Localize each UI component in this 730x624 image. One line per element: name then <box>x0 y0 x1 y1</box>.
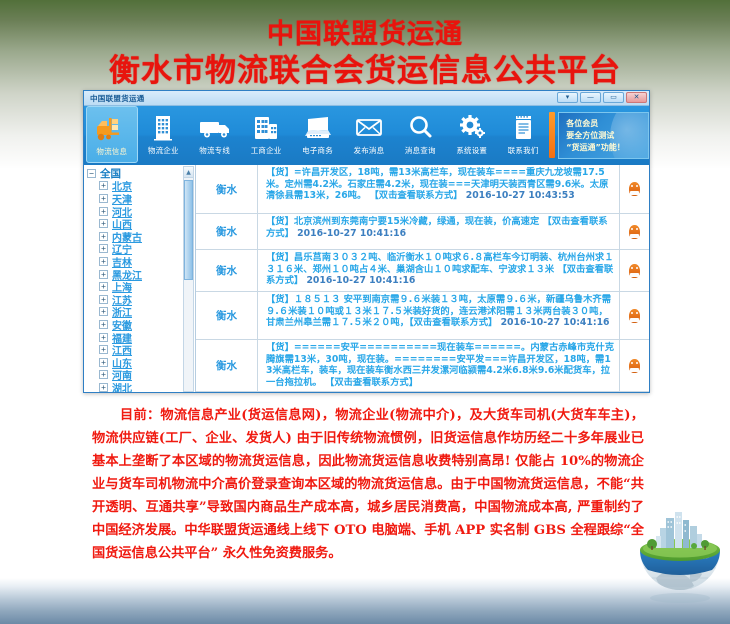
tree-node-shandong[interactable]: + 山东 <box>87 356 195 369</box>
tree-node-label: 湖北 <box>112 380 132 393</box>
window-controls: ▾ — ▭ ✕ <box>557 92 647 103</box>
tree-node-hubei[interactable]: + 湖北 <box>87 381 195 393</box>
toolbar-label: 联系我们 <box>508 145 539 156</box>
main-toolbar: 物流信息 物流企业 <box>84 106 649 165</box>
row-message: 【货】=许昌开发区，18吨，需13米高栏车，现在装车====重庆九龙坡需17.5… <box>258 165 619 213</box>
toolbar-label: 消息查询 <box>405 145 436 156</box>
headline-line-2: 衡水市物流联合会货运信息公共平台 <box>0 52 730 90</box>
computer-icon <box>298 110 338 143</box>
minimize-button[interactable]: — <box>580 92 601 103</box>
row-region: 衡水 <box>196 250 258 291</box>
tree-node-tianjin[interactable]: + 天津 <box>87 192 195 205</box>
building-icon <box>143 110 183 143</box>
region-tree: − 全国 + 北京 + 天津 + 河北 + 山西 <box>84 165 195 393</box>
row-region: 衡水 <box>196 214 258 249</box>
row-action[interactable] <box>619 292 649 339</box>
row-action[interactable] <box>619 340 649 391</box>
toolbar-item-logistics-info[interactable]: 物流信息 <box>86 106 138 163</box>
expander-icon[interactable]: + <box>99 219 108 228</box>
page-headline: 中国联盟货运通 衡水市物流联合会货运信息公共平台 <box>0 18 730 90</box>
expander-icon[interactable]: + <box>99 320 108 329</box>
toolbar-item-system-settings[interactable]: 系统设置 <box>446 106 497 163</box>
tree-node-jiangxi[interactable]: + 江西 <box>87 343 195 356</box>
expander-icon[interactable]: + <box>99 383 108 392</box>
window-titlebar: 中国联盟货运通 ▾ — ▭ ✕ <box>84 91 649 106</box>
row-timestamp: 2016-10-27 10:41:16 <box>501 317 610 328</box>
row-timestamp: 2016-10-27 10:43:53 <box>466 190 575 201</box>
row-action[interactable] <box>619 250 649 291</box>
application-body: − 全国 + 北京 + 天津 + 河北 + 山西 <box>84 165 649 393</box>
tree-node-anhui[interactable]: + 安徽 <box>87 318 195 331</box>
truck-icon <box>195 110 235 143</box>
promo-line-2: 要全方位测试 <box>566 130 648 142</box>
expander-icon[interactable]: + <box>99 370 108 379</box>
window-title: 中国联盟货运通 <box>90 93 145 104</box>
office-building-icon <box>246 110 286 143</box>
gear-icon <box>452 110 492 143</box>
table-row[interactable]: 衡水 【货】１８５１３ 安平到南京需９.６米装１３吨，太原需９.６米，新疆乌鲁木… <box>196 292 649 340</box>
tree-node-root[interactable]: − 全国 <box>87 167 195 180</box>
message-list: 衡水 【货】=许昌开发区，18吨，需13米高栏车，现在装车====重庆九龙坡需1… <box>196 165 649 393</box>
tree-node-heilongjiang[interactable]: + 黑龙江 <box>87 268 195 281</box>
tree-node-zhejiang[interactable]: + 浙江 <box>87 306 195 319</box>
expander-icon[interactable]: + <box>99 345 108 354</box>
toolbar-item-publish-message[interactable]: 发布消息 <box>343 106 394 163</box>
toolbar-label: 工商企业 <box>251 145 282 156</box>
row-region: 衡水 <box>196 165 258 213</box>
toolbar-divider <box>549 112 555 158</box>
promo-banner[interactable]: 各位会员 要全方位测试 “货运通”功能！ <box>558 112 649 159</box>
forklift-icon <box>92 111 132 144</box>
document-icon <box>503 110 543 143</box>
expander-icon[interactable]: + <box>99 244 108 253</box>
expander-icon[interactable]: + <box>99 358 108 367</box>
application-window: 中国联盟货运通 ▾ — ▭ ✕ 物流信息 <box>83 90 650 393</box>
tree-node-henan[interactable]: + 河南 <box>87 369 195 382</box>
row-message: 【货】北京滨州到东莞南宁要15米冷藏，绿通，现在装，价高速定 【双击查看联系方式… <box>258 214 619 249</box>
row-action[interactable] <box>619 165 649 213</box>
toolbar-label: 系统设置 <box>456 145 487 156</box>
tree-node-jiangsu[interactable]: + 江苏 <box>87 293 195 306</box>
toolbar-item-logistics-line[interactable]: 物流专线 <box>189 106 240 163</box>
row-region: 衡水 <box>196 340 258 391</box>
expander-icon[interactable]: + <box>99 194 108 203</box>
toolbar-item-contact-us[interactable]: 联系我们 <box>497 106 548 163</box>
tree-node-label: 湖南 <box>112 392 132 393</box>
region-tree-panel: − 全国 + 北京 + 天津 + 河北 + 山西 <box>84 165 196 393</box>
toolbar-label: 物流企业 <box>148 145 179 156</box>
promo-line-3: “货运通”功能！ <box>566 142 648 154</box>
toolbar-label: 电子商务 <box>302 145 333 156</box>
magnifier-icon <box>400 110 440 143</box>
expander-icon[interactable]: + <box>99 307 108 316</box>
expander-icon[interactable]: + <box>99 181 108 190</box>
promo-line-1: 各位会员 <box>566 118 648 130</box>
expander-icon[interactable]: + <box>99 232 108 241</box>
tree-scrollbar[interactable]: ▲ <box>183 166 194 392</box>
dropdown-button[interactable]: ▾ <box>557 92 578 103</box>
expander-icon[interactable]: + <box>99 295 108 304</box>
row-message: 【货】======安平==========现在装车======。内蒙古赤峰市克什… <box>258 340 619 391</box>
close-button[interactable]: ✕ <box>626 92 647 103</box>
tree-node-hebei[interactable]: + 河北 <box>87 205 195 218</box>
qq-icon[interactable] <box>629 264 640 278</box>
expander-icon[interactable]: + <box>99 257 108 266</box>
row-timestamp: 2016-10-27 10:41:16 <box>297 228 406 239</box>
toolbar-label: 物流信息 <box>96 146 127 157</box>
tree-node-shanghai[interactable]: + 上海 <box>87 280 195 293</box>
row-message: 【货】昌乐莒南３０３２吨、临沂衡水１０吨求６.８高栏车今订明装、杭州台州求１３１… <box>258 250 619 291</box>
expander-icon[interactable]: + <box>99 270 108 279</box>
description-paragraph: 目前：物流信息产业(货运信息网)，物流企业(物流中介)，及大货车司机(大货车车主… <box>92 404 644 565</box>
row-region: 衡水 <box>196 292 258 339</box>
tree-node-fujian[interactable]: + 福建 <box>87 331 195 344</box>
toolbar-label: 物流专线 <box>199 145 230 156</box>
expander-icon[interactable]: + <box>99 282 108 291</box>
row-message: 【货】１８５１３ 安平到南京需９.６米装１３吨，太原需９.６米，新疆乌鲁木齐需９… <box>258 292 619 339</box>
qq-icon[interactable] <box>629 182 640 196</box>
row-action[interactable] <box>619 214 649 249</box>
table-row[interactable]: 衡水 【货】======安平==========现在装车======。内蒙古赤峰… <box>196 340 649 392</box>
qq-icon[interactable] <box>629 225 640 239</box>
headline-line-1: 中国联盟货运通 <box>0 18 730 52</box>
tree-node-beijing[interactable]: + 北京 <box>87 180 195 193</box>
scrollbar-thumb[interactable] <box>184 180 193 280</box>
qq-icon[interactable] <box>629 359 640 373</box>
toolbar-item-logistics-company[interactable]: 物流企业 <box>138 106 189 163</box>
background-bottom-gradient <box>0 578 730 624</box>
table-row[interactable]: 衡水 【货】=许昌开发区，18吨，需13米高栏车，现在装车====重庆九龙坡需1… <box>196 165 649 214</box>
table-row[interactable]: 衡水 【货】北京滨州到东莞南宁要15米冷藏，绿通，现在装，价高速定 【双击查看联… <box>196 214 649 250</box>
tree-node-neimenggu[interactable]: + 内蒙古 <box>87 230 195 243</box>
row-timestamp: 2016-10-27 10:41:16 <box>306 275 415 286</box>
earth-globe-city-icon <box>632 506 728 618</box>
expander-icon[interactable]: + <box>99 207 108 216</box>
toolbar-item-message-query[interactable]: 消息查询 <box>395 106 446 163</box>
scroll-up-icon[interactable]: ▲ <box>184 167 193 178</box>
toolbar-item-industrial-company[interactable]: 工商企业 <box>240 106 291 163</box>
table-row[interactable]: 衡水 【货】昌乐莒南３０３２吨、临沂衡水１０吨求６.８高栏车今订明装、杭州台州求… <box>196 250 649 292</box>
envelope-icon <box>349 110 389 143</box>
expander-icon[interactable]: + <box>99 333 108 342</box>
row-message-text: 【货】======安平==========现在装车======。内蒙古赤峰市克什… <box>266 342 614 388</box>
toolbar-label: 发布消息 <box>354 145 385 156</box>
qq-icon[interactable] <box>629 309 640 323</box>
toolbar-item-ecommerce[interactable]: 电子商务 <box>292 106 343 163</box>
maximize-button[interactable]: ▭ <box>603 92 624 103</box>
tree-node-liaoning[interactable]: + 辽宁 <box>87 243 195 256</box>
expander-icon[interactable]: − <box>87 169 96 178</box>
